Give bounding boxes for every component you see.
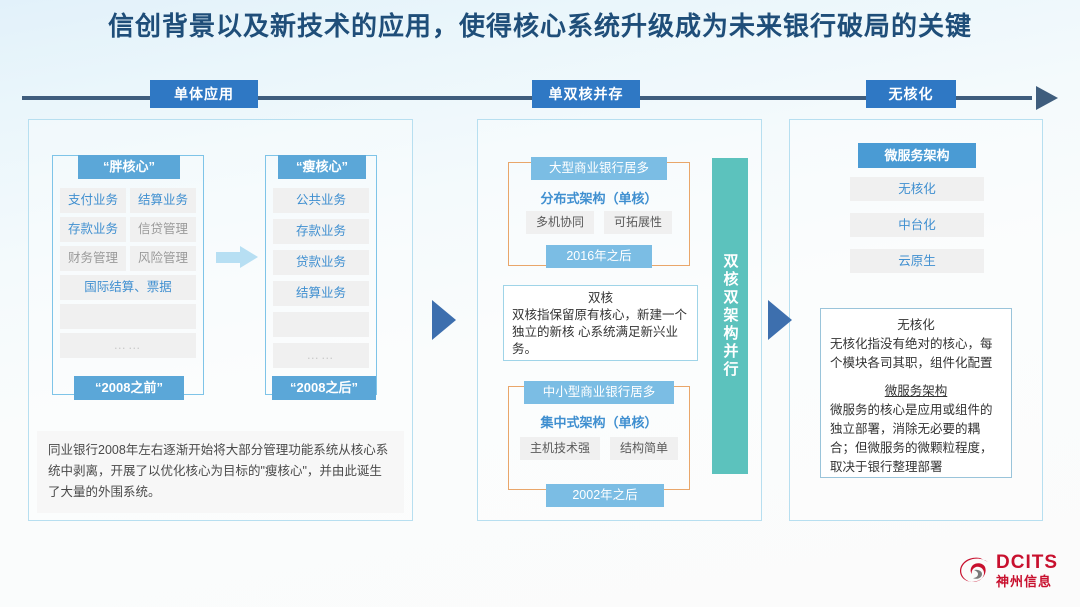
- coreless-heading-1: 无核化: [830, 315, 1002, 335]
- core-transition-arrow-icon: [216, 246, 258, 268]
- small-bank-chip-row: 主机技术强 结构简单: [508, 437, 690, 460]
- dual-core-vertical-label: 双核双架构并行: [720, 253, 741, 379]
- panel-monolithic-caption: 同业银行2008年左右逐渐开始将大部分管理功能系统从核心系统中剥离，开展了以优化…: [37, 431, 404, 513]
- dcits-swirl-icon: [958, 554, 992, 588]
- fat-core-item-ellipsis: ……: [60, 333, 196, 358]
- large-bank-footer: 2016年之后: [546, 245, 652, 268]
- fat-core-item[interactable]: 支付业务: [60, 188, 126, 213]
- coreless-item[interactable]: 无核化: [850, 177, 984, 201]
- timeline-phase-2[interactable]: 单双核并存: [532, 80, 640, 108]
- connector-arrow-1-icon: [432, 300, 456, 340]
- fat-core-item[interactable]: 财务管理: [60, 246, 126, 271]
- thin-core-item-ellipsis: ……: [273, 343, 369, 368]
- timeline-arrow-icon: [1036, 86, 1058, 110]
- fat-core-footer: “2008之前”: [74, 376, 184, 400]
- thin-core-header: “瘦核心”: [278, 155, 366, 179]
- fat-core-item[interactable]: 结算业务: [130, 188, 196, 213]
- large-bank-chip[interactable]: 可拓展性: [604, 211, 672, 234]
- coreless-item-list: 无核化 中台化 云原生: [850, 177, 984, 273]
- coreless-item[interactable]: 云原生: [850, 249, 984, 273]
- fat-core-item[interactable]: 存款业务: [60, 217, 126, 242]
- coreless-body-1: 无核化指没有绝对的核心，每个模块各司其职，组件化配置: [830, 335, 1002, 373]
- timeline: 单体应用 单双核并存 无核化: [22, 86, 1058, 112]
- timeline-phase-3[interactable]: 无核化: [866, 80, 956, 108]
- coreless-item[interactable]: 中台化: [850, 213, 984, 237]
- logo-sub-text: 神州信息: [996, 573, 1052, 591]
- fat-core-item-grid: 支付业务 结算业务 存款业务 信贷管理 财务管理 风险管理 国际结算、票据 ……: [60, 188, 196, 358]
- description-spacer: [830, 373, 1002, 381]
- thin-core-item[interactable]: 存款业务: [273, 219, 369, 244]
- small-bank-architecture: 集中式架构（单核）: [508, 412, 690, 431]
- large-bank-architecture: 分布式架构（单核）: [508, 188, 690, 207]
- small-bank-header: 中小型商业银行居多: [524, 381, 674, 404]
- thin-core-item[interactable]: 公共业务: [273, 188, 369, 213]
- large-bank-chip[interactable]: 多机协同: [526, 211, 594, 234]
- arrow-head: [240, 246, 258, 268]
- dual-core-note-heading: 双核: [512, 290, 689, 307]
- thin-core-item-empty: [273, 312, 369, 337]
- fat-core-item[interactable]: 国际结算、票据: [60, 275, 196, 300]
- fat-core-item[interactable]: 信贷管理: [130, 217, 196, 242]
- microservice-header-tag: 微服务架构: [858, 143, 976, 168]
- coreless-description: 无核化 无核化指没有绝对的核心，每个模块各司其职，组件化配置 微服务架构 微服务…: [820, 308, 1012, 478]
- logo-brand-text: DCITS: [996, 552, 1058, 574]
- page-title: 信创背景以及新技术的应用，使得核心系统升级成为未来银行破局的关键: [0, 6, 1080, 46]
- fat-core-item[interactable]: 风险管理: [130, 246, 196, 271]
- coreless-heading-2: 微服务架构: [830, 381, 1002, 401]
- slide-title-bar: 信创背景以及新技术的应用，使得核心系统升级成为未来银行破局的关键: [0, 6, 1080, 46]
- large-bank-header: 大型商业银行居多: [531, 157, 667, 180]
- small-bank-footer: 2002年之后: [546, 484, 664, 507]
- fat-core-item-empty: [60, 304, 196, 329]
- large-bank-chip-row: 多机协同 可拓展性: [508, 211, 690, 234]
- thin-core-item[interactable]: 贷款业务: [273, 250, 369, 275]
- fat-core-header: “胖核心”: [78, 155, 180, 179]
- dual-core-note-body: 双核指保留原有核心，新建一个独立的新核 心系统满足新兴业务。: [512, 307, 689, 358]
- thin-core-footer: “2008之后”: [272, 376, 376, 400]
- thin-core-item-list: 公共业务 存款业务 贷款业务 结算业务 ……: [273, 188, 369, 368]
- arrow-shaft: [216, 252, 242, 263]
- dual-core-vertical-banner: 双核双架构并行: [712, 158, 748, 474]
- small-bank-chip[interactable]: 结构简单: [610, 437, 678, 460]
- timeline-phase-1[interactable]: 单体应用: [150, 80, 258, 108]
- connector-arrow-2-icon: [768, 300, 792, 340]
- thin-core-item[interactable]: 结算业务: [273, 281, 369, 306]
- coreless-body-2: 微服务的核心是应用或组件的独立部署，消除无必要的耦合；但微服务的微颗粒程度，取决…: [830, 401, 1002, 477]
- company-logo: DCITS 神州信息: [958, 552, 1068, 596]
- dual-core-note: 双核 双核指保留原有核心，新建一个独立的新核 心系统满足新兴业务。: [503, 285, 698, 361]
- small-bank-chip[interactable]: 主机技术强: [520, 437, 600, 460]
